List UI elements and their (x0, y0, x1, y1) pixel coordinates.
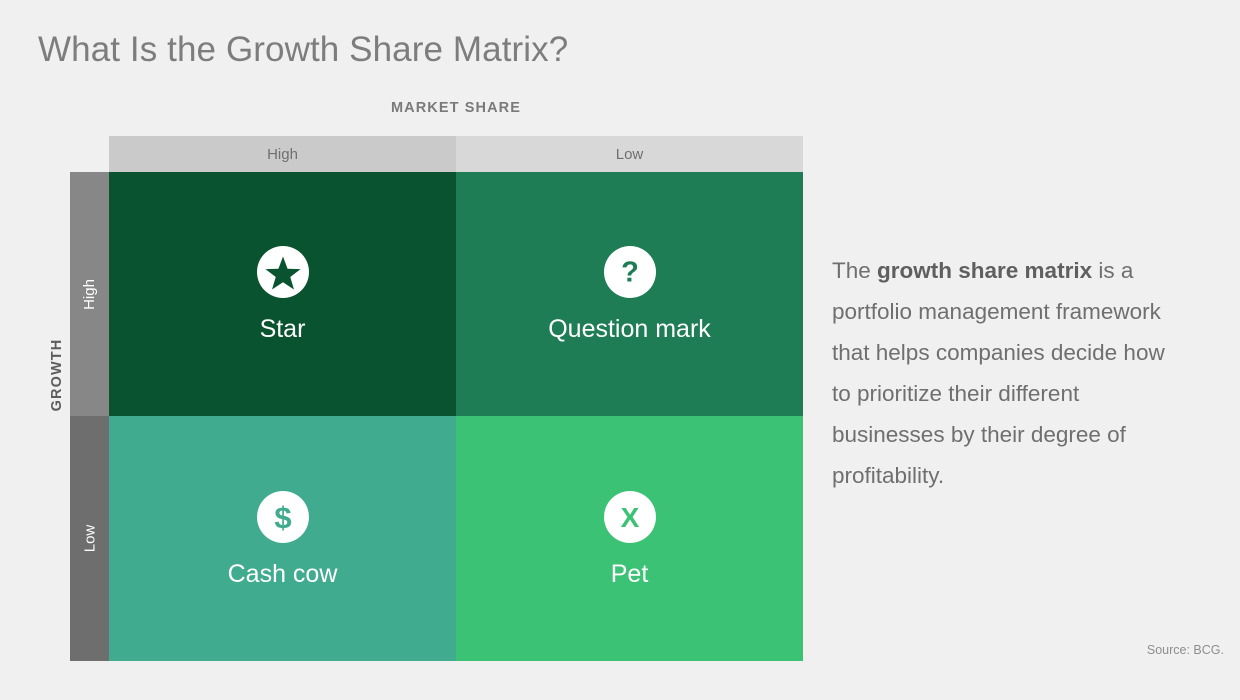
quadrant-star-label: Star (260, 317, 306, 342)
column-header-low: Low (456, 136, 803, 172)
quadrant-star[interactable]: Star (109, 172, 456, 416)
growth-axis-label: GROWTH (49, 315, 65, 435)
row-header-high-label: High (81, 279, 98, 310)
source-note: Source: BCG. (1147, 643, 1224, 657)
market-share-axis-label: MARKET SHARE (109, 100, 803, 116)
description-rest: is a portfolio management framework that… (832, 258, 1165, 488)
description-emphasis: growth share matrix (877, 258, 1092, 283)
quadrant-question-mark-label: Question mark (548, 317, 711, 342)
svg-text:?: ? (621, 257, 639, 289)
x-mark-icon: X (604, 491, 656, 543)
question-mark-icon: ? (604, 246, 656, 298)
description-lead: The (832, 258, 877, 283)
quadrant-cash-cow[interactable]: $ Cash cow (109, 416, 456, 661)
quadrant-cash-cow-label: Cash cow (228, 562, 338, 587)
row-header-low: Low (70, 416, 109, 661)
row-header-low-label: Low (81, 525, 98, 553)
description-paragraph: The growth share matrix is a portfolio m… (832, 250, 1182, 496)
svg-text:X: X (620, 502, 639, 533)
quadrant-pet-label: Pet (611, 562, 649, 587)
page-title: What Is the Growth Share Matrix? (38, 30, 568, 70)
column-header-high: High (109, 136, 456, 172)
svg-text:$: $ (274, 500, 291, 535)
quadrant-pet[interactable]: X Pet (456, 416, 803, 661)
column-header-high-label: High (267, 146, 298, 163)
quadrant-question-mark[interactable]: ? Question mark (456, 172, 803, 416)
dollar-sign-icon: $ (257, 491, 309, 543)
column-header-low-label: Low (616, 146, 644, 163)
star-icon (257, 246, 309, 298)
row-header-high: High (70, 172, 109, 416)
